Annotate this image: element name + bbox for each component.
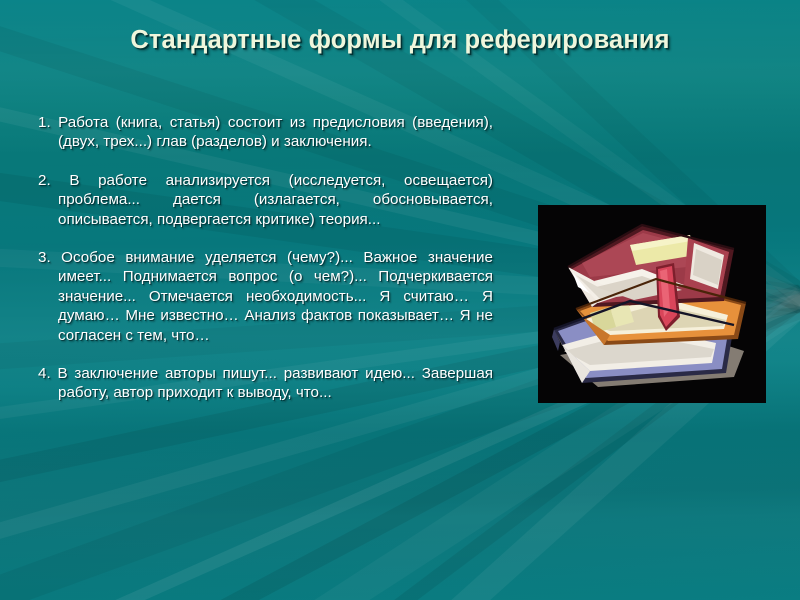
body-text-column: 1. Работа (книга, статья) состоит из пре… xyxy=(38,113,493,403)
paragraph-1: 1. Работа (книга, статья) состоит из пре… xyxy=(38,113,493,152)
page-title: Стандартные формы для реферирования xyxy=(130,26,669,55)
paragraph-4: 4. В заключение авторы пишут... развиваю… xyxy=(38,364,493,403)
slide-canvas: Стандартные формы для реферирования 1. Р… xyxy=(0,0,800,600)
books-image xyxy=(538,205,766,403)
title-container: Стандартные формы для реферирования xyxy=(0,26,800,55)
paragraph-2: 2. В работе анализируется (исследуется, … xyxy=(38,171,493,229)
paragraph-3: 3. Особое внимание уделяется (чему?)... … xyxy=(38,248,493,345)
stack-of-books-icon xyxy=(538,205,766,403)
